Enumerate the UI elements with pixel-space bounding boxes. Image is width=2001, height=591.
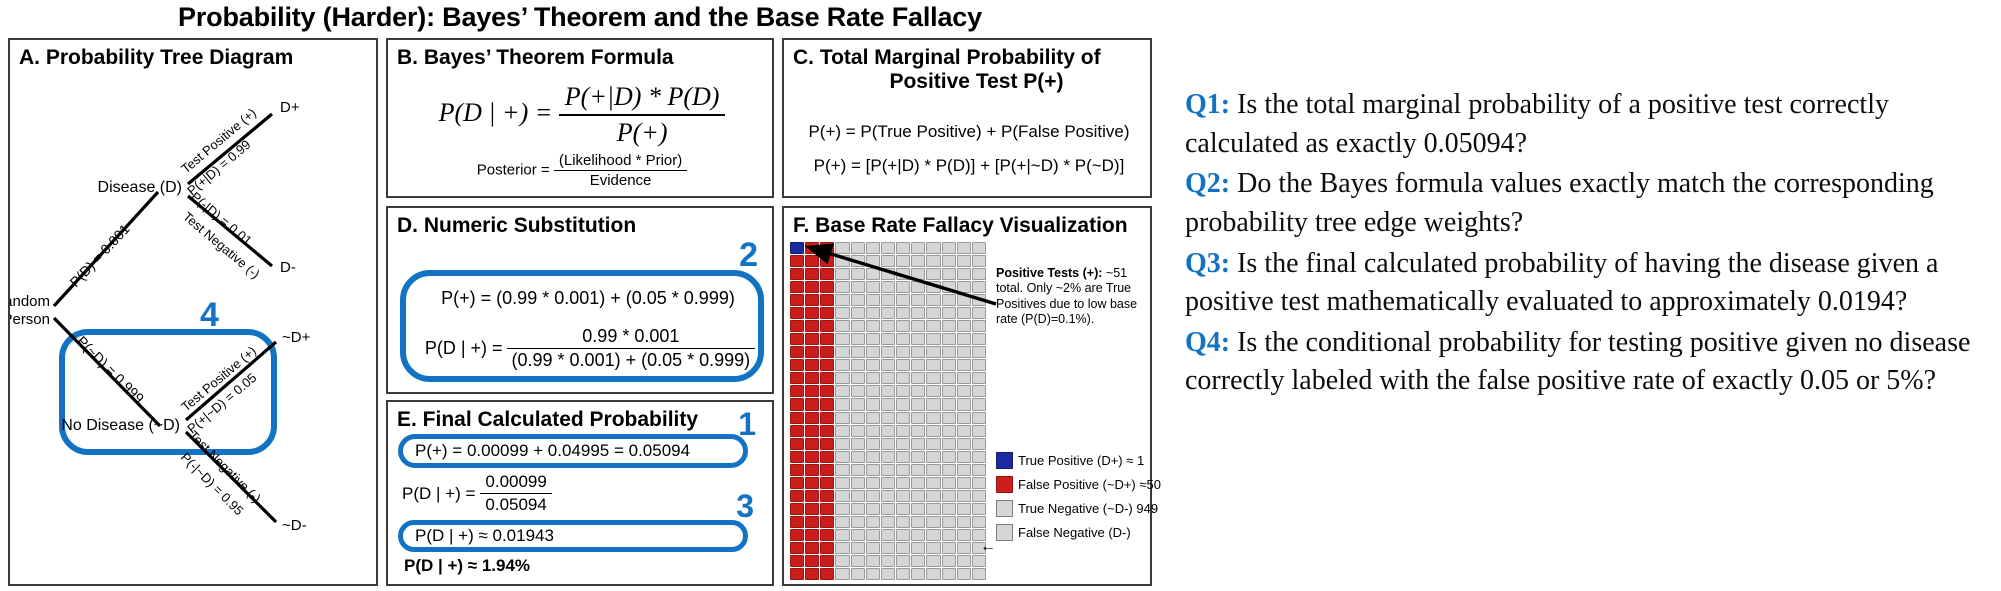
grid-cell-true-negative [866, 333, 880, 345]
grid-cell-true-negative [866, 346, 880, 358]
grid-cell-true-negative [835, 542, 849, 554]
grid-cell-true-negative [896, 477, 910, 489]
grid-cell-true-negative [972, 451, 986, 463]
grid-cell-true-negative [942, 542, 956, 554]
grid-cell-false-positive [790, 542, 804, 554]
grid-cell-true-negative [881, 372, 895, 384]
grid-cell-true-negative [896, 568, 910, 580]
grid-cell-false-positive [805, 359, 819, 371]
grid-cell-true-negative [957, 412, 971, 424]
tree-leaf-nd-minus: ~D- [282, 517, 307, 534]
grid-cell-true-negative [942, 372, 956, 384]
grid-cell-false-positive [820, 477, 834, 489]
numeric-substitution-eq2-lhs: P(D | +) = [425, 338, 503, 359]
grid-cell-true-negative [942, 451, 956, 463]
grid-cell-false-positive [805, 542, 819, 554]
grid-cell-true-negative [896, 320, 910, 332]
grid-cell-true-negative [911, 320, 925, 332]
grid-cell-true-negative [942, 412, 956, 424]
grid-cell-true-negative [911, 503, 925, 515]
grid-cell-true-negative [926, 294, 940, 306]
grid-cell-true-negative [911, 307, 925, 319]
panel-d-title: D. Numeric Substitution [388, 208, 772, 238]
final-fraction-denominator: 0.05094 [480, 493, 551, 515]
grid-cell-true-negative [866, 242, 880, 254]
tree-root-label-line2: Person [10, 311, 50, 328]
final-posterior-highlight-box: P(D | +) ≈ 0.01943 [398, 520, 748, 552]
posterior-label: Posterior = [477, 161, 550, 178]
final-marginal-highlight-box: P(+) = 0.00099 + 0.04995 = 0.05094 [398, 434, 748, 468]
grid-cell-false-positive [805, 385, 819, 397]
base-rate-grid [790, 242, 986, 580]
grid-cell-false-positive [820, 307, 834, 319]
grid-cell-true-negative [911, 438, 925, 450]
grid-cell-false-positive [820, 568, 834, 580]
grid-cell-true-negative [881, 425, 895, 437]
bayes-formula-main: P(D | +) = P(+|D) * P(D) P(+) [388, 82, 776, 148]
grid-cell-false-positive [790, 477, 804, 489]
grid-cell-true-negative [926, 412, 940, 424]
grid-cell-false-positive [805, 281, 819, 293]
grid-cell-false-positive [790, 464, 804, 476]
grid-cell-false-positive [805, 529, 819, 541]
grid-cell-true-negative [957, 464, 971, 476]
legend-swatch-tp [996, 452, 1013, 469]
grid-cell-true-negative [851, 490, 865, 502]
grid-cell-false-positive [790, 555, 804, 567]
grid-cell-true-negative [835, 385, 849, 397]
grid-cell-false-positive [805, 568, 819, 580]
grid-cell-true-negative [957, 451, 971, 463]
grid-cell-true-negative [866, 529, 880, 541]
grid-cell-true-negative [942, 490, 956, 502]
grid-cell-true-negative [896, 255, 910, 267]
grid-cell-true-negative [957, 333, 971, 345]
legend-swatch-fn [996, 524, 1013, 541]
grid-cell-false-positive [820, 372, 834, 384]
bayes-formula-denominator: P(+) [559, 114, 726, 148]
legend-label: True Positive (D+) ≈ 1 [1018, 453, 1144, 468]
grid-cell-true-negative [957, 516, 971, 528]
grid-cell-true-negative [926, 503, 940, 515]
grid-cell-false-positive [790, 438, 804, 450]
grid-cell-true-negative [881, 346, 895, 358]
final-fraction-numerator: 0.00099 [480, 472, 551, 493]
grid-cell-true-negative [926, 281, 940, 293]
grid-cell-false-positive [820, 425, 834, 437]
grid-cell-true-negative [881, 516, 895, 528]
grid-cell-true-negative [881, 438, 895, 450]
legend-row: True Negative (~D-) 949 [996, 500, 1152, 517]
grid-cell-false-positive [790, 568, 804, 580]
grid-cell-true-negative [911, 412, 925, 424]
grid-cell-true-negative [942, 438, 956, 450]
grid-cell-true-negative [957, 529, 971, 541]
grid-cell-true-negative [972, 555, 986, 567]
tree-node-no-disease: No Disease (~D) [61, 417, 180, 434]
grid-cell-true-negative [896, 307, 910, 319]
grid-cell-true-negative [866, 307, 880, 319]
grid-cell-true-negative [972, 503, 986, 515]
grid-cell-false-positive [820, 255, 834, 267]
legend-row: True Positive (D+) ≈ 1 [996, 452, 1152, 469]
figure-region: Probability (Harder): Bayes’ Theorem and… [0, 0, 1160, 591]
grid-cell-true-negative [972, 281, 986, 293]
grid-cell-false-positive [790, 385, 804, 397]
grid-cell-true-negative [835, 425, 849, 437]
grid-cell-false-positive [820, 359, 834, 371]
grid-cell-true-negative [896, 268, 910, 280]
grid-cell-true-negative [942, 555, 956, 567]
question-item: Q3: Is the final calculated probability … [1185, 245, 1985, 322]
grid-cell-true-negative [911, 568, 925, 580]
grid-cell-false-positive [805, 307, 819, 319]
grid-cell-true-negative [911, 477, 925, 489]
grid-cell-false-positive [805, 268, 819, 280]
grid-cell-true-negative [881, 242, 895, 254]
grid-cell-true-negative [957, 398, 971, 410]
grid-cell-true-negative [926, 346, 940, 358]
grid-cell-true-negative [866, 372, 880, 384]
grid-cell-false-positive [805, 412, 819, 424]
grid-cell-true-negative [866, 438, 880, 450]
numeric-substitution-eq2-fraction: 0.99 * 0.001 (0.99 * 0.001) + (0.05 * 0.… [507, 326, 756, 371]
grid-cell-false-positive [790, 359, 804, 371]
grid-cell-true-negative [851, 464, 865, 476]
grid-cell-true-negative [911, 294, 925, 306]
grid-cell-true-negative [835, 294, 849, 306]
grid-cell-true-negative [926, 542, 940, 554]
grid-cell-true-negative [835, 281, 849, 293]
grid-cell-false-positive [790, 529, 804, 541]
grid-cell-true-negative [866, 281, 880, 293]
grid-cell-true-negative [957, 568, 971, 580]
grid-cell-true-negative [835, 568, 849, 580]
grid-cell-false-positive [805, 425, 819, 437]
grid-cell-true-negative [957, 438, 971, 450]
grid-cell-true-negative [911, 359, 925, 371]
final-marginal-equation: P(+) = 0.00099 + 0.04995 = 0.05094 [415, 441, 690, 461]
grid-cell-true-negative [866, 555, 880, 567]
grid-cell-false-positive [805, 255, 819, 267]
grid-cell-false-positive [805, 242, 819, 254]
panel-b-title: B. Bayes’ Theorem Formula [388, 40, 772, 70]
probability-tree-svg: Random Person Disease (D) No Disease (~D… [10, 74, 376, 584]
grid-cell-false-positive [805, 333, 819, 345]
grid-cell-false-positive [820, 516, 834, 528]
grid-cell-false-positive [790, 281, 804, 293]
grid-cell-true-negative [881, 529, 895, 541]
grid-cell-true-negative [881, 412, 895, 424]
grid-cell-true-negative [866, 385, 880, 397]
grid-cell-true-negative [911, 333, 925, 345]
grid-cell-true-negative [896, 385, 910, 397]
grid-cell-true-negative [942, 255, 956, 267]
question-label: Q4: [1185, 327, 1230, 358]
grid-cell-true-negative [926, 555, 940, 567]
grid-cell-true-negative [911, 555, 925, 567]
grid-cell-true-negative [942, 568, 956, 580]
bayes-formula-lhs: P(D | +) = [439, 98, 553, 127]
grid-cell-true-negative [881, 555, 895, 567]
grid-cell-true-negative [896, 359, 910, 371]
grid-cell-true-negative [972, 385, 986, 397]
tree-edge-prior-disease: P(D) = 0.001 [66, 221, 132, 290]
grid-cell-true-negative [835, 529, 849, 541]
grid-cell-true-negative [926, 438, 940, 450]
panel-a-title: A. Probability Tree Diagram [10, 40, 376, 70]
grid-cell-false-positive [790, 398, 804, 410]
grid-cell-true-negative [972, 242, 986, 254]
grid-cell-false-positive [820, 412, 834, 424]
grid-cell-true-negative [896, 398, 910, 410]
grid-cell-true-negative [866, 412, 880, 424]
grid-cell-true-negative [911, 516, 925, 528]
grid-cell-false-positive [805, 372, 819, 384]
grid-cell-true-negative [866, 359, 880, 371]
grid-cell-true-negative [926, 516, 940, 528]
grid-cell-true-negative [896, 451, 910, 463]
grid-cell-true-negative [896, 333, 910, 345]
grid-cell-true-negative [911, 529, 925, 541]
grid-cell-true-negative [972, 372, 986, 384]
bayes-formula-plain-language: Posterior = (Likelihood * Prior) Evidenc… [388, 152, 776, 189]
grid-cell-true-negative [957, 555, 971, 567]
grid-cell-false-positive [820, 320, 834, 332]
grid-cell-true-negative [851, 333, 865, 345]
grid-cell-true-negative [942, 385, 956, 397]
final-fraction: 0.00099 0.05094 [480, 472, 551, 515]
bayes-formula-fraction: P(+|D) * P(D) P(+) [559, 82, 726, 148]
grid-cell-true-negative [896, 412, 910, 424]
final-posterior-value: P(D | +) ≈ 0.01943 [415, 526, 554, 546]
grid-cell-true-negative [835, 464, 849, 476]
grid-cell-true-negative [881, 294, 895, 306]
final-fraction-lhs: P(D | +) = [402, 484, 475, 504]
grid-cell-true-negative [942, 333, 956, 345]
grid-cell-true-negative [866, 425, 880, 437]
grid-cell-true-negative [957, 477, 971, 489]
question-item: Q2: Do the Bayes formula values exactly … [1185, 165, 1985, 242]
grid-cell-true-negative [926, 529, 940, 541]
legend-row: False Negative (D-) [996, 524, 1152, 541]
grid-cell-true-negative [866, 477, 880, 489]
grid-cell-true-negative [851, 346, 865, 358]
grid-cell-true-negative [911, 451, 925, 463]
grid-cell-false-positive [820, 490, 834, 502]
grid-cell-true-negative [972, 568, 986, 580]
grid-cell-true-negative [911, 268, 925, 280]
grid-cell-true-negative [926, 490, 940, 502]
tree-leaf-d-minus: D- [280, 259, 296, 276]
grid-cell-false-positive [820, 529, 834, 541]
grid-cell-true-negative [957, 346, 971, 358]
grid-cell-false-positive [790, 372, 804, 384]
grid-cell-false-positive [820, 268, 834, 280]
grid-cell-true-negative [896, 555, 910, 567]
posterior-numerator: (Likelihood * Prior) [554, 152, 687, 170]
grid-cell-true-negative [926, 425, 940, 437]
grid-cell-true-negative [881, 307, 895, 319]
grid-cell-true-negative [911, 542, 925, 554]
tree-edge-prior-no-disease: P(~D) = 0.999 [74, 333, 148, 407]
base-rate-legend: True Positive (D+) ≈ 1False Positive (~D… [996, 452, 1152, 548]
grid-cell-true-negative [851, 555, 865, 567]
grid-cell-true-negative [835, 333, 849, 345]
grid-cell-true-negative [866, 490, 880, 502]
grid-cell-true-negative [942, 503, 956, 515]
grid-cell-true-negative [972, 307, 986, 319]
grid-cell-false-positive [820, 294, 834, 306]
grid-cell-true-negative [972, 412, 986, 424]
grid-cell-true-negative [972, 425, 986, 437]
grid-cell-false-positive [790, 307, 804, 319]
marginal-equation-1: P(+) = P(True Positive) + P(False Positi… [784, 122, 1154, 142]
grid-cell-true-negative [926, 242, 940, 254]
grid-cell-true-negative [911, 398, 925, 410]
grid-cell-true-negative [866, 451, 880, 463]
grid-cell-true-negative [942, 425, 956, 437]
legend-swatch-tn [996, 500, 1013, 517]
grid-cell-true-negative [835, 307, 849, 319]
grid-cell-true-negative [896, 372, 910, 384]
grid-cell-true-negative [957, 542, 971, 554]
grid-cell-true-negative [957, 268, 971, 280]
numeric-substitution-eq1: P(+) = (0.99 * 0.001) + (0.05 * 0.999) [406, 288, 770, 309]
grid-cell-true-negative [835, 398, 849, 410]
grid-cell-false-positive [805, 464, 819, 476]
grid-cell-true-negative [866, 516, 880, 528]
grid-cell-false-positive [820, 242, 834, 254]
grid-cell-true-negative [957, 255, 971, 267]
grid-cell-true-negative [851, 477, 865, 489]
legend-row: False Positive (~D+) ≈50 [996, 476, 1152, 493]
grid-cell-true-negative [942, 307, 956, 319]
grid-cell-true-negative [972, 255, 986, 267]
posterior-denominator: Evidence [554, 170, 687, 189]
grid-cell-true-negative [851, 516, 865, 528]
grid-cell-false-positive [805, 516, 819, 528]
grid-cell-true-negative [957, 242, 971, 254]
grid-cell-true-negative [881, 568, 895, 580]
panel-c-title: C. Total Marginal Probability of Positiv… [784, 40, 1150, 93]
grid-cell-true-negative [881, 320, 895, 332]
grid-cell-true-negative [851, 359, 865, 371]
grid-cell-false-positive [820, 398, 834, 410]
numeric-substitution-eq2: P(D | +) = 0.99 * 0.001 (0.99 * 0.001) +… [412, 326, 768, 371]
question-item: Q4: Is the conditional probability for t… [1185, 324, 1985, 401]
grid-cell-true-negative [866, 320, 880, 332]
grid-cell-false-positive [805, 294, 819, 306]
panel-c-title-line1: C. Total Marginal Probability of [793, 46, 1101, 69]
panel-e-badge-3: 3 [736, 488, 754, 525]
grid-cell-false-positive [790, 490, 804, 502]
tree-leaf-nd-plus: ~D+ [282, 329, 311, 346]
panel-f-base-rate-visualization: F. Base Rate Fallacy Visualization Posit… [782, 206, 1152, 586]
grid-cell-false-positive [820, 555, 834, 567]
grid-cell-false-positive [790, 503, 804, 515]
grid-cell-true-negative [911, 281, 925, 293]
legend-label: False Positive (~D+) ≈50 [1018, 477, 1161, 492]
grid-cell-true-negative [835, 268, 849, 280]
grid-cell-true-negative [881, 477, 895, 489]
grid-cell-true-negative [896, 503, 910, 515]
grid-cell-true-negative [972, 438, 986, 450]
grid-cell-true-negative [866, 503, 880, 515]
grid-cell-true-negative [926, 464, 940, 476]
panel-b-bayes-formula: B. Bayes’ Theorem Formula P(D | +) = P(+… [386, 38, 774, 198]
grid-cell-true-negative [851, 398, 865, 410]
grid-cell-true-negative [851, 281, 865, 293]
grid-cell-true-negative [881, 281, 895, 293]
grid-cell-true-negative [851, 307, 865, 319]
grid-cell-true-negative [866, 255, 880, 267]
grid-cell-true-negative [926, 451, 940, 463]
grid-cell-false-positive [790, 294, 804, 306]
grid-cell-false-positive [805, 346, 819, 358]
grid-cell-true-negative [835, 359, 849, 371]
grid-cell-true-negative [851, 255, 865, 267]
grid-cell-true-negative [851, 242, 865, 254]
grid-cell-true-negative [896, 242, 910, 254]
grid-cell-false-positive [805, 398, 819, 410]
grid-cell-true-negative [851, 425, 865, 437]
grid-cell-true-negative [911, 372, 925, 384]
grid-cell-true-negative [972, 294, 986, 306]
grid-cell-true-negative [866, 268, 880, 280]
grid-cell-true-negative [835, 503, 849, 515]
grid-cell-true-negative [972, 333, 986, 345]
question-item: Q1: Is the total marginal probability of… [1185, 86, 1985, 163]
grid-cell-false-positive [805, 490, 819, 502]
grid-cell-true-negative [942, 268, 956, 280]
grid-cell-true-positive [790, 242, 804, 254]
positive-tests-annotation-heading: Positive Tests (+): [996, 266, 1102, 280]
grid-cell-true-negative [957, 307, 971, 319]
grid-cell-false-positive [820, 281, 834, 293]
grid-cell-true-negative [926, 568, 940, 580]
tree-leaf-d-plus: D+ [280, 99, 300, 116]
grid-cell-true-negative [911, 490, 925, 502]
grid-cell-true-negative [942, 516, 956, 528]
legend-label: False Negative (D-) [1018, 525, 1131, 540]
grid-cell-true-negative [957, 385, 971, 397]
question-label: Q2: [1185, 168, 1230, 199]
grid-cell-true-negative [896, 438, 910, 450]
grid-cell-false-positive [805, 555, 819, 567]
grid-cell-true-negative [957, 425, 971, 437]
grid-cell-true-negative [835, 372, 849, 384]
grid-cell-false-positive [820, 542, 834, 554]
grid-cell-false-positive [790, 412, 804, 424]
grid-cell-true-negative [911, 425, 925, 437]
grid-cell-true-negative [926, 255, 940, 267]
grid-cell-false-positive [820, 385, 834, 397]
panel-f-title: F. Base Rate Fallacy Visualization [784, 208, 1150, 238]
grid-cell-true-negative [851, 438, 865, 450]
grid-cell-true-negative [851, 320, 865, 332]
panel-d-badge-2: 2 [739, 236, 758, 275]
grid-cell-true-negative [926, 307, 940, 319]
grid-cell-true-negative [881, 464, 895, 476]
grid-cell-true-negative [926, 320, 940, 332]
grid-cell-true-negative [851, 385, 865, 397]
grid-cell-true-negative [911, 242, 925, 254]
grid-cell-true-negative [957, 281, 971, 293]
grid-cell-true-negative [851, 529, 865, 541]
grid-cell-true-negative [942, 346, 956, 358]
grid-cell-true-negative [926, 268, 940, 280]
